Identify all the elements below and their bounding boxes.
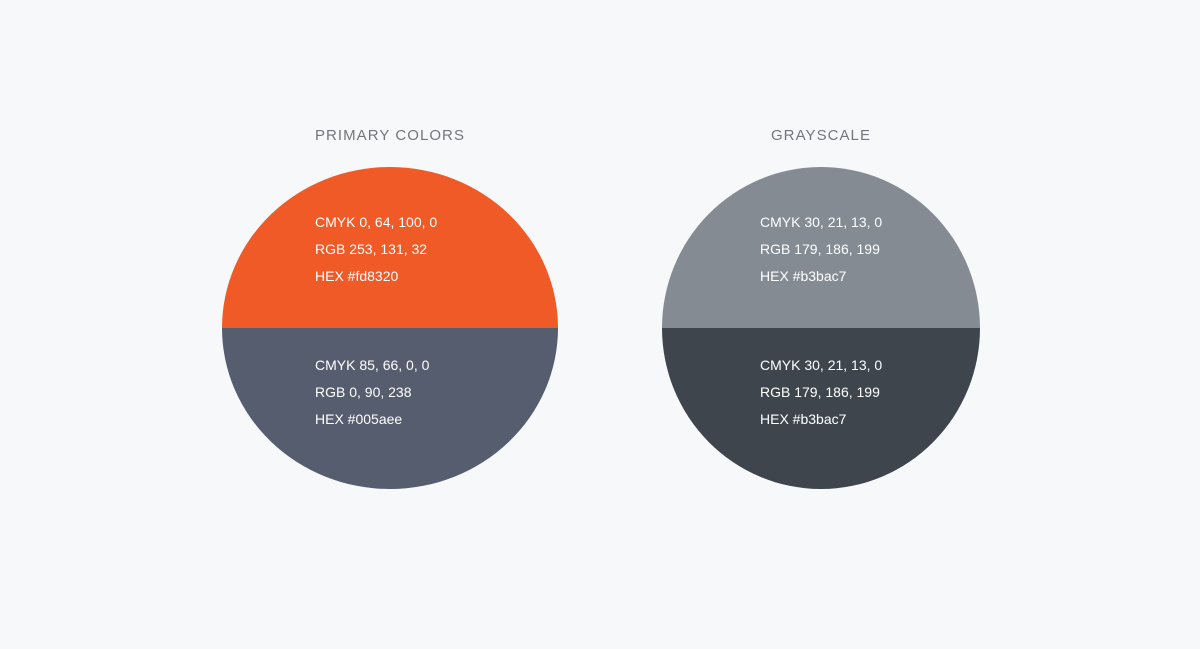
swatch-cmyk-value: CMYK 30, 21, 13, 0 — [760, 214, 882, 230]
swatch-cmyk-value: CMYK 30, 21, 13, 0 — [760, 357, 882, 373]
swatch-cmyk-value: CMYK 0, 64, 100, 0 — [315, 214, 437, 230]
swatch-rgb-value: RGB 179, 186, 199 — [760, 384, 882, 400]
color-swatch-gray-light[interactable]: CMYK 30, 21, 13, 0 RGB 179, 186, 199 HEX… — [662, 167, 980, 328]
swatch-rgb-value: RGB 179, 186, 199 — [760, 241, 882, 257]
palette-group-heading-primary-colors: PRIMARY COLORS — [222, 127, 558, 144]
color-wheel-grayscale: CMYK 30, 21, 13, 0 RGB 179, 186, 199 HEX… — [662, 167, 980, 489]
palette-group-heading-grayscale: GRAYSCALE — [662, 127, 980, 144]
swatch-hex-value: HEX #fd8320 — [315, 268, 437, 284]
swatch-hex-value: HEX #b3bac7 — [760, 411, 882, 427]
swatch-spec-list: CMYK 0, 64, 100, 0 RGB 253, 131, 32 HEX … — [315, 214, 437, 284]
swatch-spec-list: CMYK 30, 21, 13, 0 RGB 179, 186, 199 HEX… — [760, 357, 882, 427]
swatch-spec-list: CMYK 30, 21, 13, 0 RGB 179, 186, 199 HEX… — [760, 214, 882, 284]
color-swatch-gray-dark[interactable]: CMYK 30, 21, 13, 0 RGB 179, 186, 199 HEX… — [662, 328, 980, 489]
swatch-hex-value: HEX #b3bac7 — [760, 268, 882, 284]
swatch-hex-value: HEX #005aee — [315, 411, 429, 427]
swatch-rgb-value: RGB 253, 131, 32 — [315, 241, 437, 257]
swatch-spec-list: CMYK 85, 66, 0, 0 RGB 0, 90, 238 HEX #00… — [315, 357, 429, 427]
swatch-rgb-value: RGB 0, 90, 238 — [315, 384, 429, 400]
swatch-cmyk-value: CMYK 85, 66, 0, 0 — [315, 357, 429, 373]
palette-group-grayscale: GRAYSCALE CMYK 30, 21, 13, 0 RGB 179, 18… — [662, 0, 980, 649]
color-swatch-primary-blue[interactable]: CMYK 85, 66, 0, 0 RGB 0, 90, 238 HEX #00… — [222, 328, 558, 489]
color-palette-board: PRIMARY COLORS CMYK 0, 64, 100, 0 RGB 25… — [0, 0, 1200, 649]
color-swatch-primary-orange[interactable]: CMYK 0, 64, 100, 0 RGB 253, 131, 32 HEX … — [222, 167, 558, 328]
palette-group-primary-colors: PRIMARY COLORS CMYK 0, 64, 100, 0 RGB 25… — [222, 0, 558, 649]
color-wheel-primary-colors: CMYK 0, 64, 100, 0 RGB 253, 131, 32 HEX … — [222, 167, 558, 489]
